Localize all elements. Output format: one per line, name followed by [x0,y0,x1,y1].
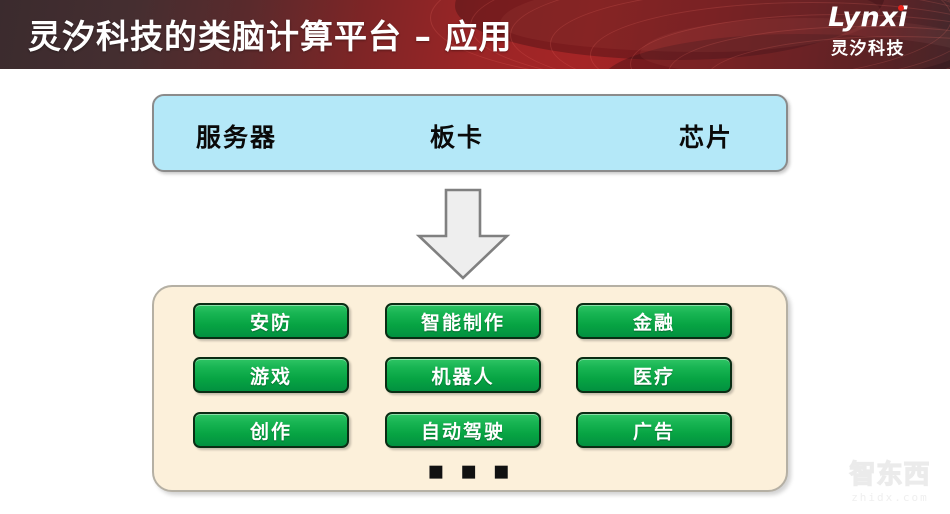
app-button-security[interactable]: 安防 [193,303,349,339]
app-button-finance[interactable]: 金融 [576,303,732,339]
app-button-creation[interactable]: 创作 [193,412,349,448]
app-button-label: 安防 [250,308,292,335]
app-button-label: 广告 [633,417,675,444]
app-button-label: 医疗 [633,362,675,389]
slide-header: 灵汐科技的类脑计算平台 – 应用 Lynxi 灵汐科技 [0,0,950,69]
watermark: 智东西 zhidx.com [838,461,942,504]
app-button-label: 创作 [250,417,292,444]
app-button-robotics[interactable]: 机器人 [385,357,541,393]
app-button-smart-manufacturing[interactable]: 智能制作 [385,303,541,339]
app-button-label: 机器人 [431,362,494,389]
brand-logo-dot-icon [898,5,904,11]
watermark-url: zhidx.com [838,491,942,504]
hardware-item-server: 服务器 [196,118,277,154]
app-button-healthcare[interactable]: 医疗 [576,357,732,393]
hardware-item-board: 板卡 [430,118,484,154]
app-button-autonomous-driving[interactable]: 自动驾驶 [385,412,541,448]
app-button-label: 自动驾驶 [421,417,505,444]
brand-logo: Lynxi 灵汐科技 [808,4,928,59]
page-title: 灵汐科技的类脑计算平台 – 应用 [28,10,512,58]
brand-logo-subtitle: 灵汐科技 [808,34,928,59]
app-button-label: 游戏 [250,362,292,389]
application-layer-box: 安防 智能制作 金融 游戏 机器人 医疗 创作 自动驾驶 广告 ▪ ▪ ▪ [152,285,788,492]
app-button-label: 智能制作 [421,308,505,335]
down-arrow-icon [415,188,511,280]
app-button-advertising[interactable]: 广告 [576,412,732,448]
more-items-ellipsis: ▪ ▪ ▪ [154,458,786,484]
app-button-gaming[interactable]: 游戏 [193,357,349,393]
app-button-label: 金融 [633,308,675,335]
hardware-layer-box: 服务器 板卡 芯片 [152,94,788,172]
brand-logo-wordmark: Lynxi [828,4,908,32]
hardware-item-chip: 芯片 [679,118,733,154]
watermark-logo-text: 智东西 [838,461,942,490]
brand-logo-text: Lynxi [828,2,908,33]
slide-canvas: 灵汐科技的类脑计算平台 – 应用 Lynxi 灵汐科技 服务器 板卡 芯片 安防… [0,0,950,514]
